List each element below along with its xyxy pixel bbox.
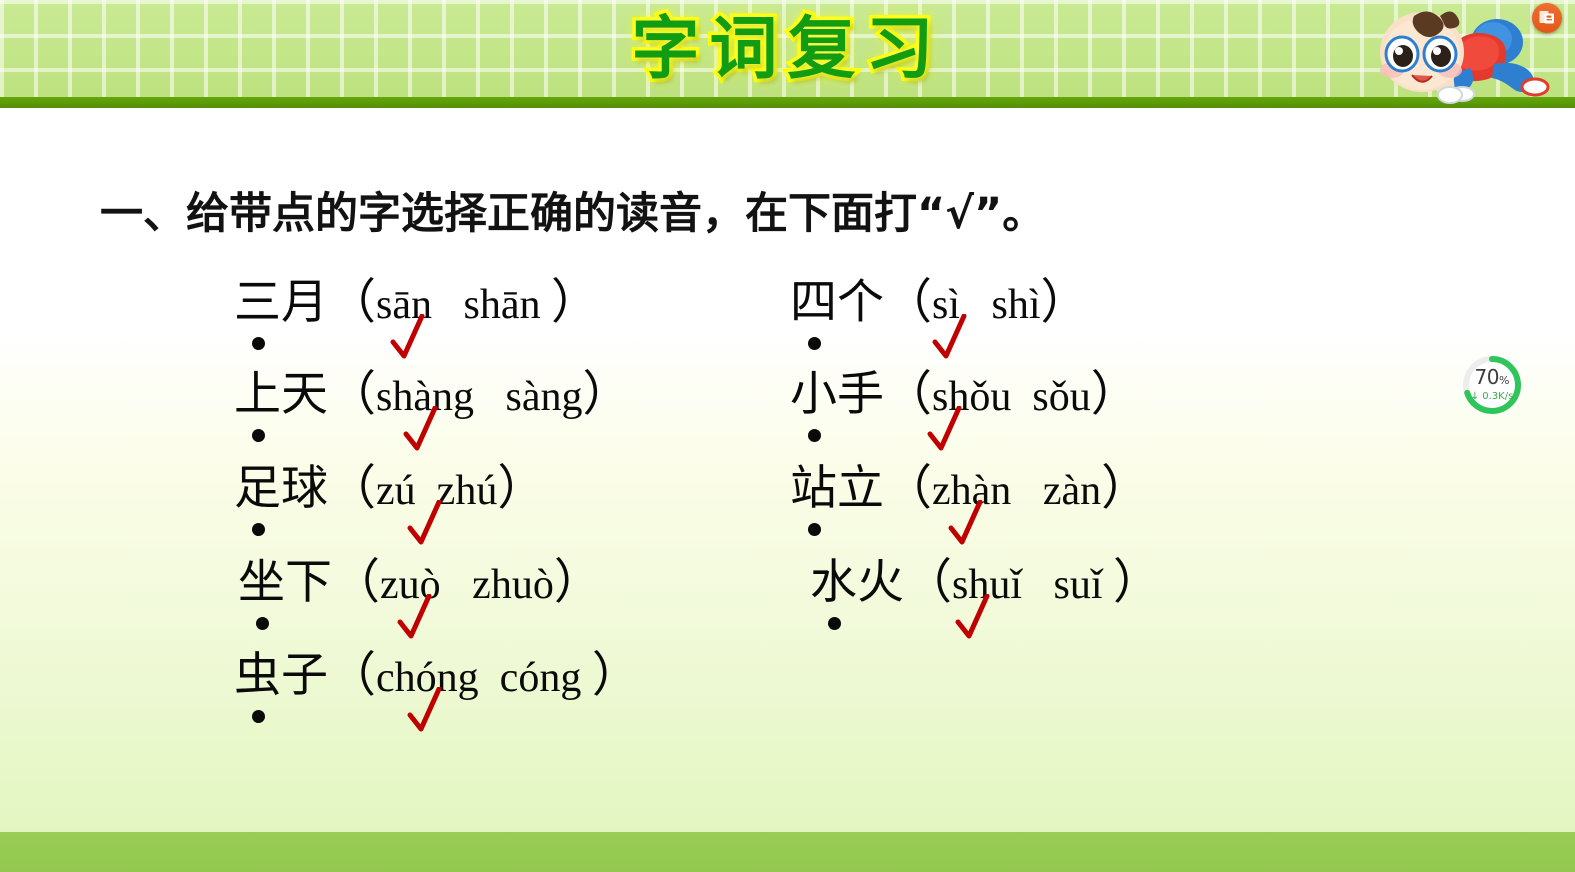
close-paren: ）	[583, 364, 631, 426]
dotted-char: 足	[234, 458, 281, 520]
close-paren: ）	[1101, 458, 1149, 520]
exercise-item[interactable]: 虫子（chóng cóng ）	[234, 645, 640, 709]
open-paren: （	[332, 552, 380, 614]
pinyin-option[interactable]: shì	[992, 274, 1041, 336]
progress-percent-value: 70	[1475, 365, 1499, 389]
pinyin-option[interactable]: sàng	[506, 366, 583, 428]
pinyin-option[interactable]: cóng	[500, 647, 582, 709]
percent-sign: %	[1499, 374, 1509, 387]
close-paren: ）	[497, 458, 545, 520]
download-progress-widget[interactable]: 70% ↓ 0.3K/s	[1458, 351, 1526, 419]
pinyin-option[interactable]: zhuò	[472, 554, 554, 616]
close-paren: ）	[554, 552, 602, 614]
word-chars: 站立	[790, 458, 884, 520]
exercise-list: 三月（sān shān ） 四个（sì shì） 上天（shàng sàng）	[0, 272, 1575, 752]
pinyin-option[interactable]: zhàn	[932, 460, 1011, 522]
pinyin-option[interactable]: zhú	[437, 460, 498, 522]
word-rest: 天	[281, 367, 328, 422]
word-chars: 虫子	[234, 645, 328, 707]
open-paren: （	[328, 364, 376, 426]
pinyin-option[interactable]: sǒu	[1032, 366, 1090, 428]
word-rest: 手	[837, 367, 884, 422]
page-title: 字词复习	[0, 4, 1575, 96]
word-chars: 坐下	[238, 552, 332, 614]
word-rest: 子	[281, 648, 328, 703]
pinyin-option[interactable]: sān	[376, 274, 432, 336]
open-paren: （	[328, 645, 376, 707]
pinyin-option[interactable]: suǐ	[1054, 554, 1103, 616]
exercise-item[interactable]: 足球（zú zhú）	[234, 458, 545, 522]
close-paren: ）	[592, 645, 640, 707]
dotted-char: 水	[810, 552, 857, 614]
close-paren: ）	[1113, 552, 1161, 614]
dotted-char: 三	[234, 272, 281, 334]
word-rest: 立	[837, 461, 884, 516]
dotted-char: 站	[790, 458, 837, 520]
word-chars: 上天	[234, 364, 328, 426]
pinyin-option[interactable]: shǒu	[932, 366, 1011, 428]
pinyin-option[interactable]: zuò	[380, 554, 441, 616]
pinyin-option[interactable]: shàng	[376, 366, 474, 428]
word-chars: 小手	[790, 364, 884, 426]
exercise-item[interactable]: 上天（shàng sàng）	[234, 364, 631, 428]
pinyin-option[interactable]: shān	[464, 274, 541, 336]
dotted-char: 坐	[238, 552, 285, 614]
dotted-char: 虫	[234, 645, 281, 707]
word-chars: 水火	[810, 552, 904, 614]
exercise-item[interactable]: 小手（shǒu sǒu）	[790, 364, 1139, 428]
progress-percent-label: 70%	[1458, 367, 1526, 387]
open-paren: （	[884, 458, 932, 520]
open-paren: （	[328, 458, 376, 520]
close-paren: ）	[1091, 364, 1139, 426]
exercise-item[interactable]: 三月（sān shān ）	[234, 272, 599, 336]
word-rest: 火	[857, 555, 904, 610]
pinyin-option[interactable]: zàn	[1043, 460, 1101, 522]
word-rest: 个	[837, 275, 884, 330]
pinyin-option[interactable]: chóng	[376, 647, 479, 709]
word-rest: 球	[281, 461, 328, 516]
slide-canvas: 字词复习	[0, 0, 1575, 872]
close-paren: ）	[1041, 272, 1089, 334]
word-rest: 月	[281, 275, 328, 330]
word-rest: 下	[285, 555, 332, 610]
dotted-char: 小	[790, 364, 837, 426]
open-paren: （	[328, 272, 376, 334]
header-divider-rule	[0, 97, 1575, 108]
question-prompt: 一、给带点的字选择正确的读音，在下面打“√”。	[100, 186, 1045, 242]
download-speed-label: ↓ 0.3K/s	[1458, 391, 1526, 402]
pinyin-option[interactable]: shuǐ	[952, 554, 1022, 616]
word-chars: 三月	[234, 272, 328, 334]
exercise-item[interactable]: 站立（zhàn zàn）	[790, 458, 1149, 522]
open-paren: （	[884, 272, 932, 334]
pinyin-option[interactable]: zú	[376, 460, 416, 522]
open-paren: （	[904, 552, 952, 614]
dotted-char: 上	[234, 364, 281, 426]
word-chars: 四个	[790, 272, 884, 334]
exercise-item[interactable]: 水火（shuǐ suǐ ）	[810, 552, 1161, 616]
pinyin-option[interactable]: sì	[932, 274, 960, 336]
exercise-item[interactable]: 坐下（zuò zhuò）	[238, 552, 602, 616]
close-paren: ）	[551, 272, 599, 334]
footer-bar	[0, 832, 1575, 872]
ppt-document-icon[interactable]	[1532, 3, 1562, 33]
exercise-item[interactable]: 四个（sì shì）	[790, 272, 1089, 336]
dotted-char: 四	[790, 272, 837, 334]
word-chars: 足球	[234, 458, 328, 520]
open-paren: （	[884, 364, 932, 426]
